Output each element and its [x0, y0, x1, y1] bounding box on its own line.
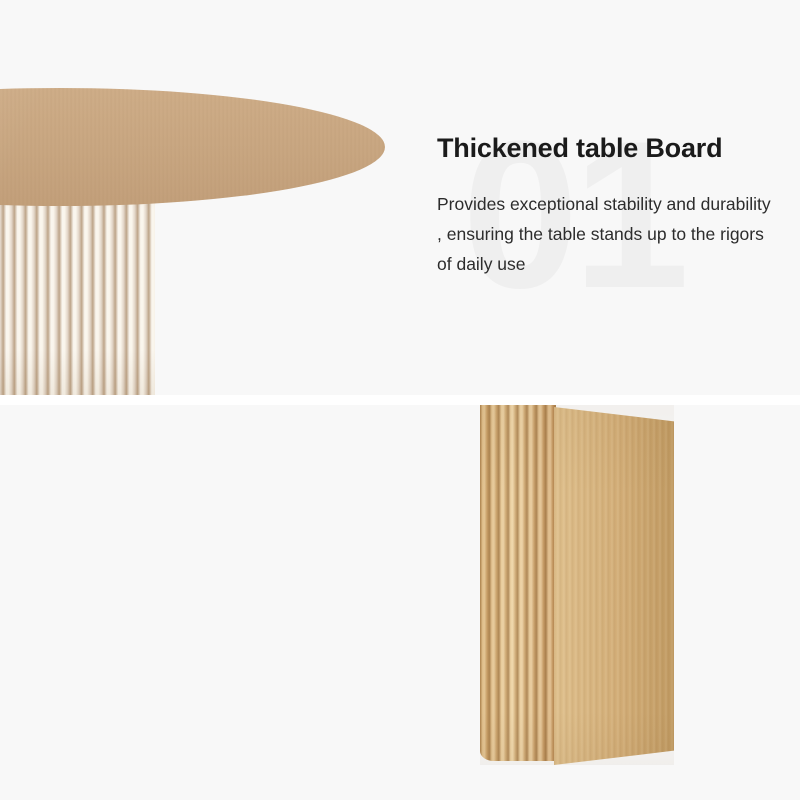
table-top-highlight [0, 88, 385, 206]
feature-panel-01: 01 Thickened table Board Provides except… [0, 0, 800, 395]
leg-fluted-side [480, 405, 556, 761]
panel-divider [0, 395, 800, 405]
product-image-table-base [450, 405, 800, 800]
feature-text-block-01: Thickened table Board Provides exception… [437, 133, 777, 279]
table-top-surface [0, 88, 385, 206]
product-image-table-board [0, 0, 400, 395]
infographic-canvas: 01 Thickened table Board Provides except… [0, 0, 800, 800]
leg-flat-face [554, 407, 674, 765]
feature-title-01: Thickened table Board [437, 133, 777, 164]
feature-description-01: Provides exceptional stability and durab… [437, 189, 777, 279]
feature-panel-02: 02 Stable Table Base Enhances support an… [0, 405, 800, 800]
